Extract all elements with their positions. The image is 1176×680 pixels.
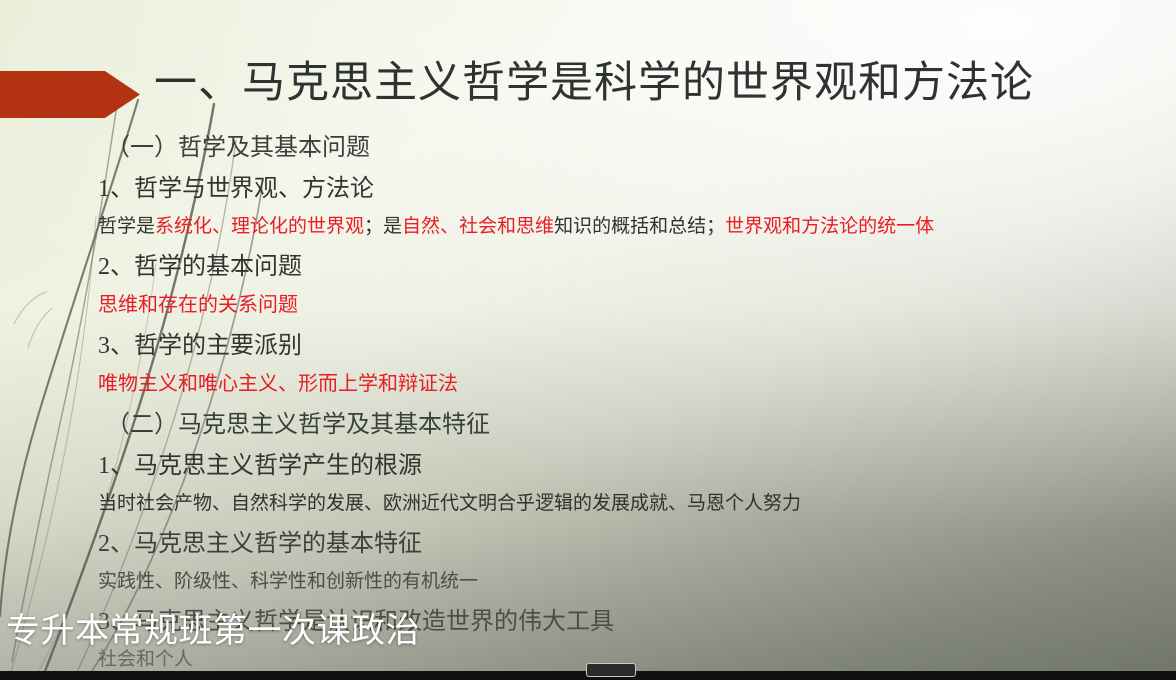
player-control-bar[interactable] (0, 671, 1176, 680)
definition-run-6: 世界观和方法论的统一体 (725, 216, 934, 237)
detail-line-features: 实践性、阶级性、科学性和创新性的有机统一 (98, 572, 1138, 591)
numbered-heading-1-1: 1、哲学与世界观、方法论 (98, 177, 1138, 201)
detail-line-origins: 当时社会产物、自然科学的发展、欧洲近代文明合乎逻辑的发展成就、马恩个人努力 (98, 494, 1138, 513)
numbered-heading-1-3: 3、哲学的主要派别 (98, 334, 1138, 358)
definition-line-mixed: 哲学是系统化、理论化的世界观；是自然、社会和思维知识的概括和总结；世界观和方法论… (98, 217, 1138, 236)
definition-run-1: 哲学是 (98, 216, 155, 237)
section-heading-1: （一）哲学及其基本问题 (98, 136, 1138, 160)
video-player-stage: 一、马克思主义哲学是科学的世界观和方法论 （一）哲学及其基本问题 1、哲学与世界… (0, 0, 1176, 680)
slide-title: 一、马克思主义哲学是科学的世界观和方法论 (154, 62, 1034, 105)
video-caption-overlay: 专升本常规班第一次课政治 (6, 603, 420, 652)
numbered-heading-2-1: 1、马克思主义哲学产生的根源 (98, 454, 1138, 478)
numbered-heading-2-2: 2、马克思主义哲学的基本特征 (98, 532, 1138, 556)
answer-line-schools: 唯物主义和唯心主义、形而上学和辩证法 (98, 374, 1138, 394)
answer-line-basic-question: 思维和存在的关系问题 (98, 295, 1138, 315)
section-heading-2: （二）马克思主义哲学及其基本特征 (98, 413, 1138, 437)
definition-run-5: 知识的概括和总结； (554, 216, 725, 237)
player-progress-handle[interactable] (586, 663, 636, 677)
definition-run-4: 自然、社会和思维 (402, 216, 554, 237)
definition-run-3: ；是 (364, 216, 402, 237)
definition-run-2: 系统化、理论化的世界观 (155, 216, 364, 237)
slide-body: （一）哲学及其基本问题 1、哲学与世界观、方法论 哲学是系统化、理论化的世界观；… (98, 136, 1138, 680)
numbered-heading-1-2: 2、哲学的基本问题 (98, 255, 1138, 279)
